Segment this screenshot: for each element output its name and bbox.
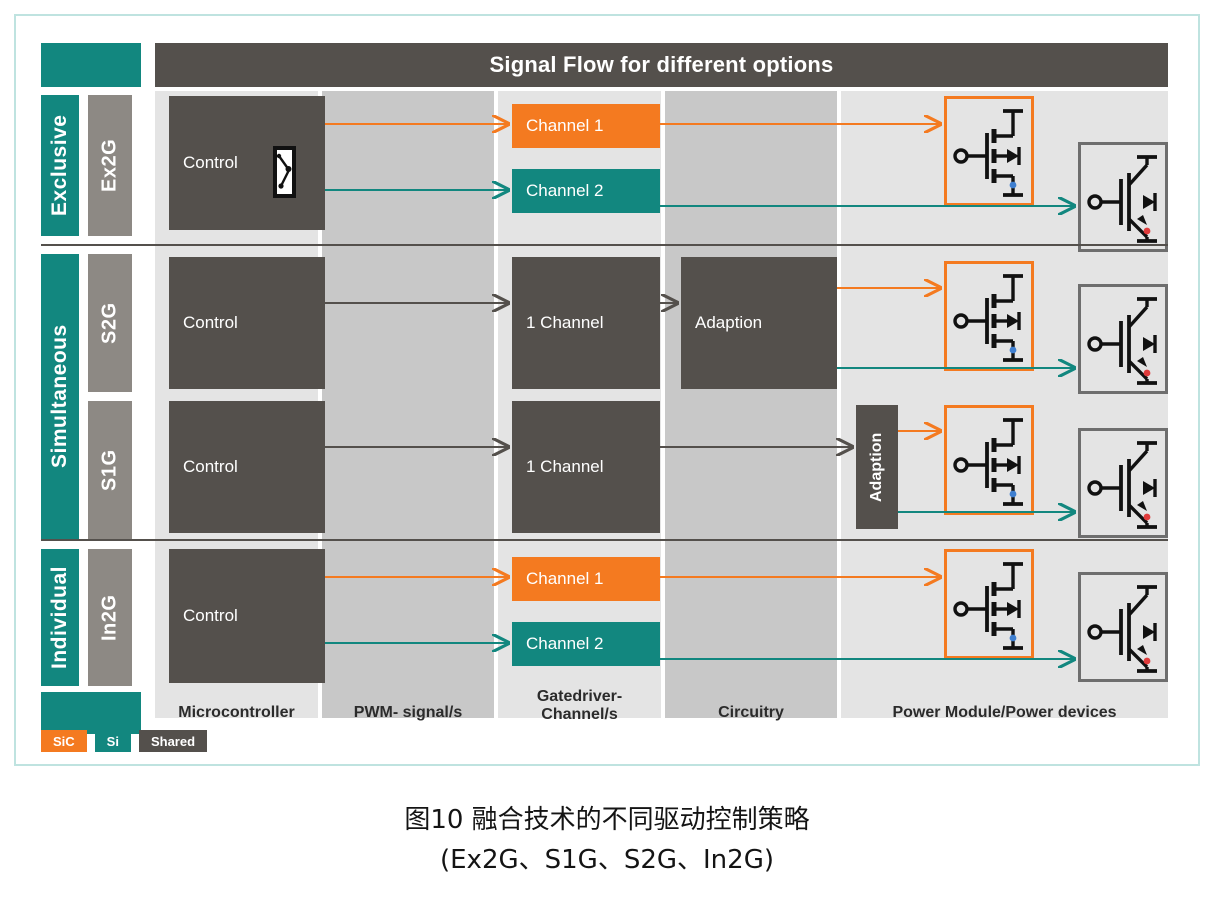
sic-mosfet-icon [947,408,1031,512]
legend-chip-sic: SiC [41,730,87,752]
s2g-control-label: Control [183,313,238,333]
caption-text: Circuitry [718,704,784,722]
sic-mosfet-icon [947,264,1031,368]
column-caption-power-module: Power Module/Power devices [841,692,1168,734]
s1g-channel-box[interactable]: 1 Channel [512,401,660,533]
in2g-control-box[interactable]: Control [169,549,325,683]
switch-mux-icon [269,146,299,198]
s2g-adaption-box[interactable]: Adaption [681,257,837,389]
signal-flow-diagram: Signal Flow for different options Exclus… [16,16,1198,764]
s1g-adaption-box[interactable]: Adaption [856,405,898,529]
s2g-channel-label: 1 Channel [526,313,604,333]
legend-label: SiC [53,734,75,749]
figure-caption-line1: 图10 融合技术的不同驱动控制策略 [0,800,1214,840]
ex2g-channel2-label: Channel 2 [526,181,604,201]
column-caption-circuitry: Circuitry [665,692,837,734]
legend-chip-si: Si [95,730,131,752]
group-label-individual: Individual [41,549,79,686]
group-label-text: Simultaneous [48,325,72,469]
option-label-s1g: S1G [88,401,132,539]
s2g-si-igbt-box[interactable] [1078,284,1168,394]
sic-mosfet-icon [947,552,1031,656]
si-igbt-icon [1081,431,1165,535]
legend-label: Si [107,734,119,749]
group-label-simultaneous: Simultaneous [41,254,79,539]
s2g-adaption-label: Adaption [695,313,762,333]
s1g-sic-mosfet-box[interactable] [944,405,1034,515]
s2g-control-box[interactable]: Control [169,257,325,389]
top-left-teal-swatch [41,43,141,87]
in2g-control-label: Control [183,606,238,626]
legend-label: Shared [151,734,195,749]
column-bg-pwm [322,91,494,718]
option-label-text: S2G [99,302,122,344]
in2g-sic-mosfet-box[interactable] [944,549,1034,659]
ex2g-channel1-label: Channel 1 [526,116,604,136]
sic-mosfet-icon [947,99,1031,203]
figure-frame: Signal Flow for different options Exclus… [14,14,1200,766]
figure-caption: 图10 融合技术的不同驱动控制策略 (Ex2G、S1G、S2G、In2G) [0,800,1214,881]
caption-text: PWM- signal/s [354,704,462,722]
option-label-text: S1G [99,449,122,491]
in2g-channel2-box[interactable]: Channel 2 [512,622,660,666]
caption-text: Power Module/Power devices [892,704,1116,722]
group-separator-1 [41,244,1168,246]
column-caption-microcontroller: Microcontroller [155,692,318,734]
s2g-sic-mosfet-box[interactable] [944,261,1034,371]
option-label-text: In2G [99,594,122,640]
caption-text: Microcontroller [178,704,294,722]
legend: SiC Si Shared [41,730,207,752]
group-separator-2 [41,539,1168,541]
s1g-control-box[interactable]: Control [169,401,325,533]
option-label-s2g: S2G [88,254,132,392]
group-label-exclusive: Exclusive [41,95,79,236]
ex2g-si-igbt-box[interactable] [1078,142,1168,252]
caption-text-line2: Channel/s [541,706,617,724]
in2g-channel1-label: Channel 1 [526,569,604,589]
diagram-title-bar: Signal Flow for different options [155,43,1168,87]
ex2g-channel1-box[interactable]: Channel 1 [512,104,660,148]
s1g-channel-label: 1 Channel [526,457,604,477]
bottom-left-teal-swatch [41,692,141,734]
s1g-adaption-label: Adaption [868,432,886,501]
si-igbt-icon [1081,145,1165,249]
page-title: Signal Flow for different options [490,52,834,78]
caption-text-line1: Gatedriver- [537,688,622,706]
column-caption-gatedriver: Gatedriver- Channel/s [498,678,661,734]
ex2g-sic-mosfet-box[interactable] [944,96,1034,206]
figure-caption-line2: (Ex2G、S1G、S2G、In2G) [0,840,1214,880]
in2g-channel2-label: Channel 2 [526,634,604,654]
s1g-si-igbt-box[interactable] [1078,428,1168,538]
group-label-text: Exclusive [48,115,72,216]
group-label-text: Individual [48,566,72,669]
s1g-control-label: Control [183,457,238,477]
legend-chip-shared: Shared [139,730,207,752]
option-label-text: Ex2G [99,139,122,192]
ex2g-control-box[interactable]: Control [169,96,325,230]
option-label-in2g: In2G [88,549,132,686]
option-label-ex2g: Ex2G [88,95,132,236]
column-caption-pwm: PWM- signal/s [322,692,494,734]
s2g-channel-box[interactable]: 1 Channel [512,257,660,389]
in2g-si-igbt-box[interactable] [1078,572,1168,682]
column-bg-circuitry [665,91,837,718]
in2g-channel1-box[interactable]: Channel 1 [512,557,660,601]
si-igbt-icon [1081,287,1165,391]
ex2g-control-label: Control [183,153,238,173]
ex2g-channel2-box[interactable]: Channel 2 [512,169,660,213]
si-igbt-icon [1081,575,1165,679]
